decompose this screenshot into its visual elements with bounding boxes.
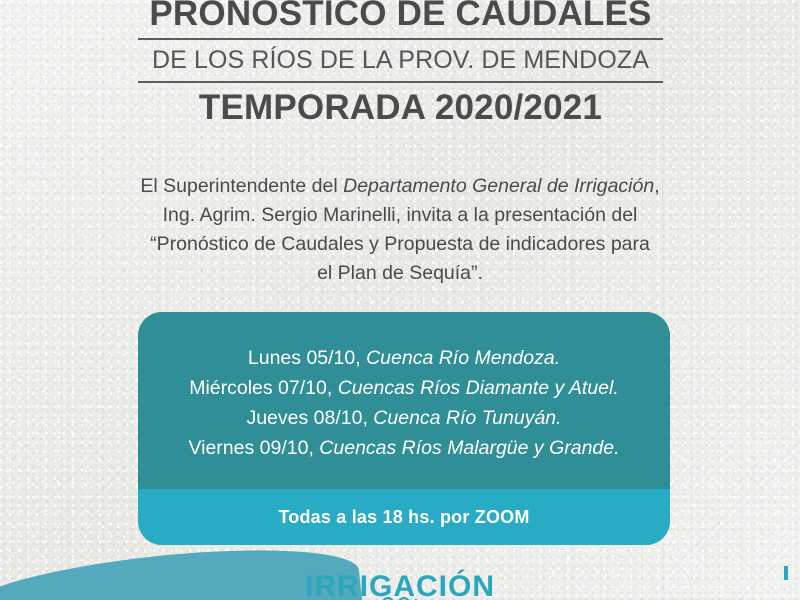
- schedule-footer-band: Todas a las 18 hs. por ZOOM: [138, 489, 670, 545]
- schedule-card: Lunes 05/10, Cuenca Río Mendoza. Miércol…: [138, 312, 670, 545]
- season-title: TEMPORADA 2020/2021: [138, 88, 663, 128]
- intro-text-organization: Departamento General de Irrigación: [343, 175, 654, 197]
- schedule-day-date: Miércoles 07/10,: [189, 377, 338, 399]
- title-divider-bottom: [138, 81, 663, 83]
- list-item: Viernes 09/10, Cuencas Ríos Malargüe y G…: [188, 433, 619, 463]
- title-divider-top: [138, 38, 663, 40]
- water-wave-icon: [383, 596, 417, 600]
- schedule-basin: Cuenca Río Tunuyán.: [373, 407, 561, 429]
- intro-text-part-1: El Superintendente del: [140, 175, 343, 197]
- schedule-day-date: Lunes 05/10,: [248, 347, 366, 369]
- list-item: Jueves 08/10, Cuenca Río Tunuyán.: [246, 403, 561, 433]
- schedule-day-date: Jueves 08/10,: [246, 407, 373, 429]
- schedule-basin: Cuencas Ríos Diamante y Atuel.: [338, 377, 619, 399]
- intro-paragraph: El Superintendente del Departamento Gene…: [140, 172, 660, 288]
- schedule-list: Lunes 05/10, Cuenca Río Mendoza. Miércol…: [138, 312, 670, 489]
- page-subtitle: DE LOS RÍOS DE LA PROV. DE MENDOZA: [138, 45, 663, 75]
- schedule-basin: Cuenca Río Mendoza.: [366, 347, 560, 369]
- schedule-basin: Cuencas Ríos Malargüe y Grande.: [319, 437, 619, 459]
- schedule-day-date: Viernes 09/10,: [188, 437, 319, 459]
- list-item: Miércoles 07/10, Cuencas Ríos Diamante y…: [189, 373, 619, 403]
- schedule-time-note: Todas a las 18 hs. por ZOOM: [278, 507, 529, 528]
- page-title: PRONÓSTICO DE CAUDALES: [138, 0, 663, 32]
- poster-canvas: PRONÓSTICO DE CAUDALES DE LOS RÍOS DE LA…: [0, 0, 800, 600]
- list-item: Lunes 05/10, Cuenca Río Mendoza.: [248, 343, 560, 373]
- poster-header: PRONÓSTICO DE CAUDALES DE LOS RÍOS DE LA…: [138, 0, 663, 128]
